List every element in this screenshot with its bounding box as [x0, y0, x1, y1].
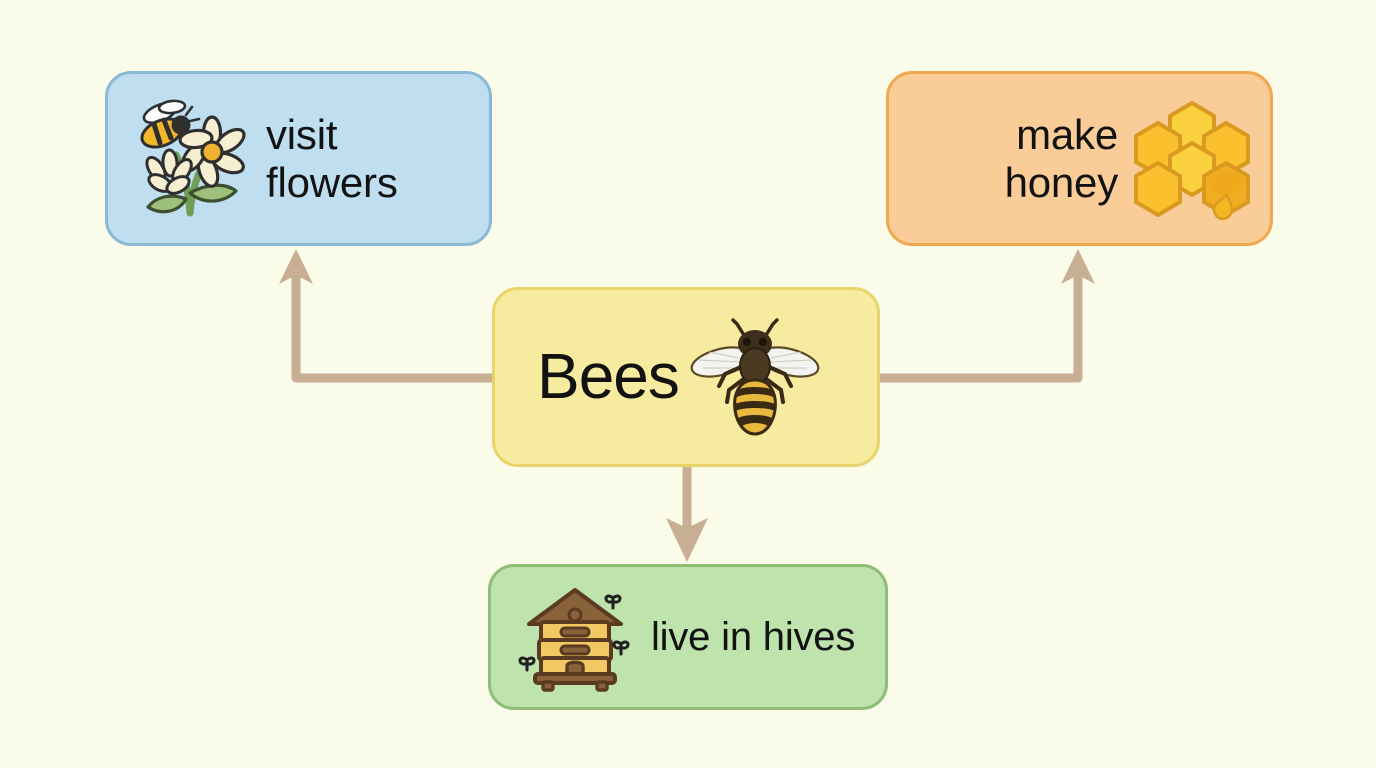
node-make-honey-label: make honey — [1005, 111, 1118, 205]
node-make-honey[interactable]: make honey — [886, 71, 1273, 246]
node-bees-label: Bees — [537, 341, 679, 413]
node-live-in-hives[interactable]: live in hives — [488, 564, 888, 710]
node-live-in-hives-label: live in hives — [651, 615, 855, 660]
honeybee-icon — [689, 318, 821, 436]
connector-bees-to-make-honey — [880, 249, 1095, 378]
node-visit-flowers-label: visit flowers — [266, 111, 398, 205]
bee-on-flowers-icon — [126, 97, 250, 221]
connector-bees-to-visit-flowers — [279, 249, 492, 378]
diagram-canvas: visit flowers make honey Bees — [0, 0, 1376, 768]
connector-bees-to-live-in-hives — [666, 467, 708, 562]
node-visit-flowers[interactable]: visit flowers — [105, 71, 492, 246]
beehive-icon — [517, 582, 633, 692]
node-bees[interactable]: Bees — [492, 287, 880, 467]
honeycomb-icon — [1132, 97, 1252, 221]
